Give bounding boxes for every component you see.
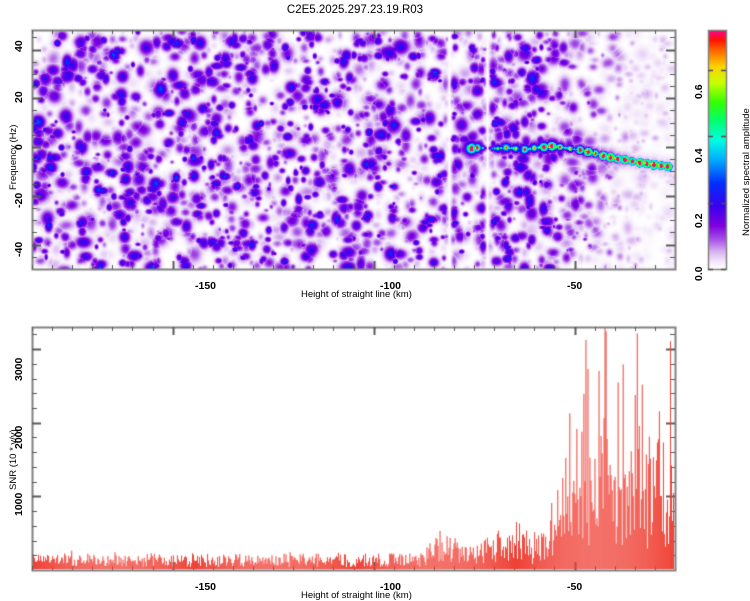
spectrogram-ytick-label-4: -20 (14, 193, 25, 208)
spectrogram-xaxis-label: Height of straight line (km) (301, 290, 412, 300)
spectrogram-ytick-label-1: 40 (14, 40, 25, 52)
figure-title: C2E5.2025.297.23.19.R03 (0, 5, 710, 17)
spectrogram-ytick-label-5: -40 (14, 242, 25, 257)
colorbar-tick-label-1: 0.0 (694, 266, 705, 281)
spectrogram-yaxis-label: Frequency (Hz) (9, 125, 19, 190)
colorbar-tick-label-3: 0.4 (694, 148, 705, 163)
plot-canvas (0, 0, 750, 600)
snr-xtick-label-1: -150 (195, 582, 216, 593)
snr-ytick-label-3: 3000 (14, 358, 25, 381)
colorbar-tick-label-2: 0.2 (694, 213, 705, 228)
snr-xaxis-label: Height of straight line (km) (301, 591, 412, 601)
spectrogram-ytick-label-2: 20 (14, 91, 25, 103)
spectrogram-xtick-label-1: -150 (195, 281, 216, 292)
snr-xtick-label-3: -50 (567, 582, 582, 593)
colorbar-tick-label-4: 0.6 (694, 84, 705, 99)
snr-ytick-label-1: 1000 (14, 493, 25, 516)
radar-figure: C2E5.2025.297.23.19.R03 -150 -100 -50 He… (0, 0, 750, 600)
snr-yaxis-label: SNR (10 * v/v) (9, 429, 19, 490)
colorbar-axis-label: Normalized spectral amplitude (742, 108, 750, 236)
spectrogram-xtick-label-3: -50 (567, 281, 582, 292)
